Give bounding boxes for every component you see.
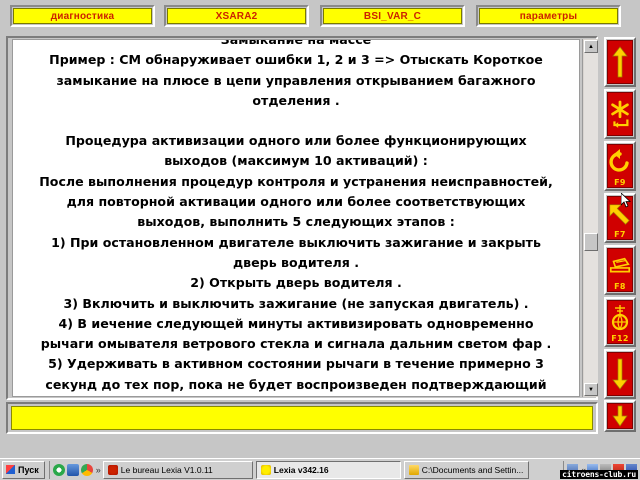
function-button-column: F9 F7 F8 (604, 37, 636, 403)
instruction-text: Замыкание на массе Пример : СМ обнаружив… (13, 39, 579, 395)
quick-launch-bar: » (49, 461, 100, 479)
lexia-app-icon (108, 465, 118, 475)
button-face (607, 40, 633, 84)
tab-diagnostika[interactable]: диагностика (10, 5, 155, 27)
printer-icon (608, 255, 632, 279)
vertical-scrollbar[interactable]: ▲ ▼ (582, 39, 598, 397)
tab-bsi-var-c[interactable]: BSI_VAR_C (320, 5, 465, 27)
content-line: Пример : СМ обнаруживает ошибки 1, 2 и 3… (17, 50, 575, 70)
site-watermark: citroens-club.ru (560, 470, 638, 479)
button-face (607, 352, 633, 396)
button-face: F7 (607, 196, 633, 240)
content-line: дверь водителя . (17, 253, 575, 273)
tab-xsara2-label: XSARA2 (167, 8, 306, 24)
content-line: Процедура активизации одного или более ф… (17, 131, 575, 151)
task-button-label: C:\Documents and Settin... (422, 465, 524, 475)
content-line: для повторной активации одного или более… (17, 192, 575, 212)
task-button-label: Lexia v342.16 (274, 465, 329, 475)
scroll-up-button[interactable] (604, 37, 636, 87)
refresh-f9-button[interactable]: F9 (604, 141, 636, 191)
back-f7-button[interactable]: F7 (604, 193, 636, 243)
arrow-down-icon (611, 404, 629, 428)
scroll-down-button[interactable] (604, 349, 636, 399)
content-line: 3) Включить и выключить зажигание (не за… (17, 294, 575, 314)
content-line: 5) Удерживать в активном состоянии рычаг… (17, 354, 575, 374)
cancel-button[interactable] (604, 89, 636, 139)
opera-icon[interactable] (53, 464, 65, 476)
task-button-label: Le bureau Lexia V1.0.11 (121, 465, 213, 475)
folder-icon (409, 465, 419, 475)
refresh-f9-label: F9 (608, 178, 632, 187)
globe-f12-label: F12 (608, 334, 632, 343)
task-button-documents[interactable]: C:\Documents and Settin... (404, 461, 529, 479)
start-button[interactable]: Пуск (2, 461, 45, 479)
scrollbar-track[interactable] (584, 53, 598, 383)
tab-parametry-label: параметры (479, 8, 618, 24)
content-line: После выполнения процедур контроля и уст… (17, 172, 575, 192)
lexia-diagnostic-window: диагностика XSARA2 BSI_VAR_C параметры З… (0, 0, 640, 480)
content-line: 2) Открыть дверь водителя . (17, 273, 575, 293)
top-tab-bar: диагностика XSARA2 BSI_VAR_C параметры (0, 0, 640, 33)
scrollbar-up-arrow-icon[interactable]: ▲ (584, 40, 598, 53)
tab-parametry[interactable]: параметры (476, 5, 621, 27)
task-button-lexia-v342[interactable]: Lexia v342.16 (256, 461, 401, 479)
content-line: 1) При остановленном двигателе выключить… (17, 233, 575, 253)
quick-launch-chevron-icon[interactable]: » (96, 465, 100, 475)
status-text (11, 406, 593, 430)
tab-diagnostika-label: диагностика (13, 8, 152, 24)
chrome-icon[interactable] (81, 464, 93, 476)
arrow-down-icon (611, 357, 629, 391)
content-line: рычаги омывателя ветрового стекла и сигн… (17, 334, 575, 354)
content-line: выходов, выполнить 5 следующих этапов : (17, 212, 575, 232)
content-line: выходов (максимум 10 активаций) : (17, 151, 575, 171)
button-face: F8 (607, 248, 633, 292)
tab-bsi-var-c-label: BSI_VAR_C (323, 8, 462, 24)
page-down-button[interactable] (604, 400, 636, 432)
back-f7-label: F7 (608, 230, 632, 239)
button-face: F12 (607, 300, 633, 344)
content-line: отделения . (17, 91, 575, 111)
arrow-up-icon (611, 45, 629, 79)
button-face: F9 (607, 144, 633, 188)
tab-xsara2[interactable]: XSARA2 (164, 5, 309, 27)
windows-taskbar: Пуск » Le bureau Lexia V1.0.11 Lexia v34… (0, 458, 640, 480)
print-f8-button[interactable]: F8 (604, 245, 636, 295)
refresh-icon (608, 149, 632, 177)
content-panel: Замыкание на массе Пример : СМ обнаружив… (6, 36, 598, 400)
content-line: замыкание на плюсе в цепи управления отк… (17, 71, 575, 91)
content-line: секунд до тех пор, пока не будет воспрои… (17, 375, 575, 395)
windows-flag-icon (6, 465, 15, 474)
desktop-background (0, 436, 640, 458)
content-heading: Замыкание на массе (17, 39, 575, 50)
print-f8-label: F8 (608, 282, 632, 291)
scrollbar-thumb[interactable] (584, 233, 598, 251)
globe-f12-button[interactable]: F12 (604, 297, 636, 347)
button-face (607, 403, 633, 429)
task-button-le-bureau-lexia[interactable]: Le bureau Lexia V1.0.11 (103, 461, 253, 479)
content-line: 4) В иечение следующей минуты активизиро… (17, 314, 575, 334)
scrollbar-down-arrow-icon[interactable]: ▼ (584, 383, 598, 396)
asterisk-enter-icon (608, 97, 632, 131)
text-viewport: Замыкание на массе Пример : СМ обнаружив… (12, 39, 580, 397)
content-spacer (17, 111, 575, 131)
lexia-star-icon (261, 465, 271, 475)
globe-antenna-icon (608, 305, 632, 333)
status-panel (6, 402, 598, 434)
start-button-label: Пуск (18, 465, 39, 475)
button-face (607, 92, 633, 136)
arrow-back-icon (608, 201, 632, 229)
show-desktop-icon[interactable] (67, 464, 79, 476)
